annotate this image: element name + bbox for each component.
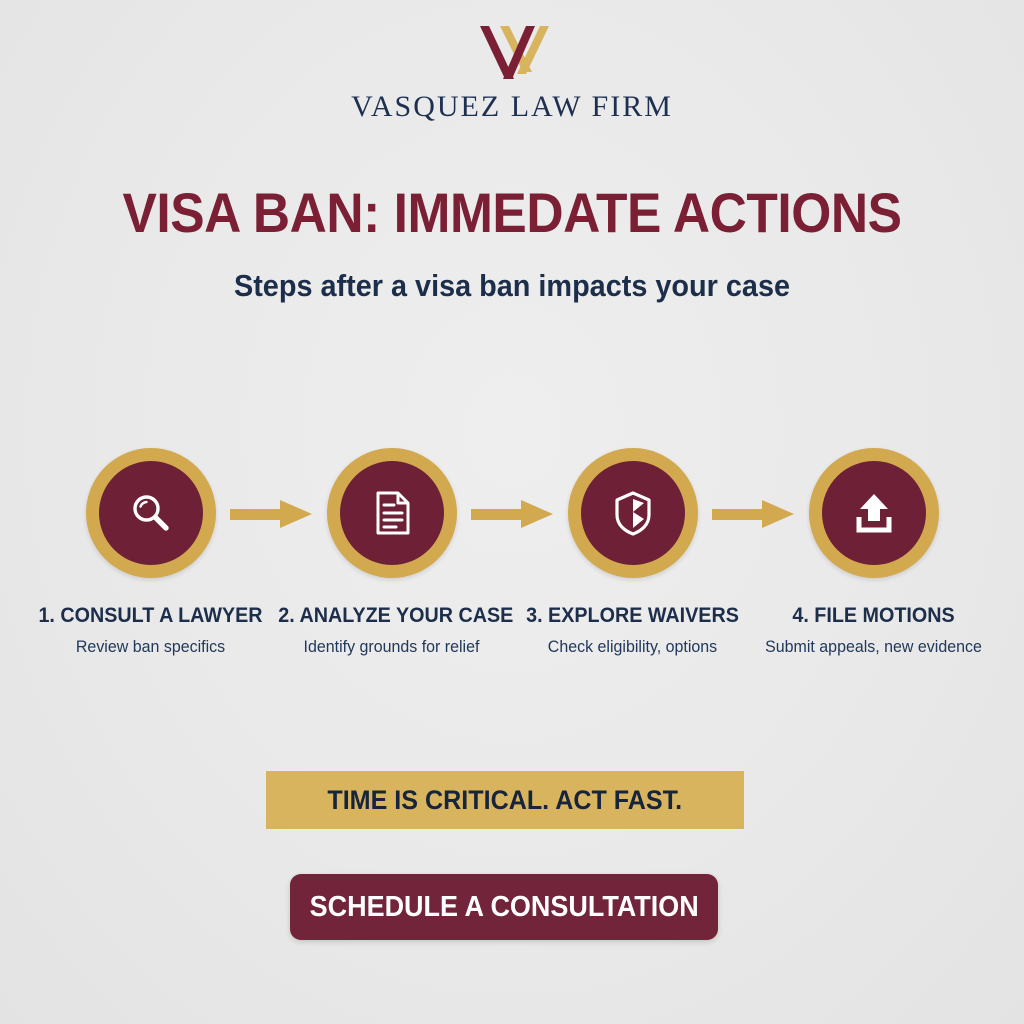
step-badge-2 bbox=[327, 448, 457, 578]
arrow-right-icon bbox=[471, 498, 557, 530]
urgency-banner: TIME IS CRITICAL. ACT FAST. bbox=[266, 771, 744, 829]
step-badge-4 bbox=[809, 448, 939, 578]
double-chevron-v-logo-icon bbox=[466, 22, 558, 84]
step-badge-3 bbox=[568, 448, 698, 578]
step-item-1: 1. CONSULT A LAWYER Review ban specifics bbox=[30, 448, 271, 657]
step-badge-inner-1 bbox=[99, 461, 203, 565]
step-badge-inner-4 bbox=[822, 461, 926, 565]
arrow-right-icon bbox=[230, 498, 316, 530]
step-title-4: 4. FILE MOTIONS bbox=[760, 604, 987, 628]
step-badge-1 bbox=[86, 448, 216, 578]
page-subtitle: Steps after a visa ban impacts your case bbox=[36, 268, 988, 304]
arrow-right-icon bbox=[712, 498, 798, 530]
step-item-4: 4. FILE MOTIONS Submit appeals, new evid… bbox=[753, 448, 994, 657]
steps-row: 1. CONSULT A LAWYER Review ban specifics bbox=[30, 448, 994, 678]
step-subtitle-2: Identify grounds for relief bbox=[278, 637, 505, 657]
step-badge-inner-2 bbox=[340, 461, 444, 565]
step-item-3: 3. EXPLORE WAIVERS Check eligibility, op… bbox=[512, 448, 753, 657]
upload-arrow-icon bbox=[849, 488, 899, 538]
page-title: VISA BAN: IMMEDATE ACTIONS bbox=[41, 180, 983, 245]
step-item-2: 2. ANALYZE YOUR CASE Identify grounds fo… bbox=[271, 448, 512, 657]
step-subtitle-4: Submit appeals, new evidence bbox=[760, 637, 987, 657]
magnifier-search-icon bbox=[126, 488, 176, 538]
step-title-1: 1. CONSULT A LAWYER bbox=[37, 604, 264, 628]
infographic-poster: VASQUEZ LAW FIRM VISA BAN: IMMEDATE ACTI… bbox=[0, 0, 1024, 1024]
urgency-banner-text: TIME IS CRITICAL. ACT FAST. bbox=[328, 785, 683, 816]
step-subtitle-1: Review ban specifics bbox=[37, 637, 264, 657]
shield-icon bbox=[608, 488, 658, 538]
step-subtitle-3: Check eligibility, options bbox=[519, 637, 746, 657]
brand-header: VASQUEZ LAW FIRM bbox=[0, 22, 1024, 124]
brand-name: VASQUEZ LAW FIRM bbox=[0, 90, 1024, 124]
step-title-3: 3. EXPLORE WAIVERS bbox=[519, 604, 746, 628]
step-title-2: 2. ANALYZE YOUR CASE bbox=[278, 604, 505, 628]
step-badge-inner-3 bbox=[581, 461, 685, 565]
schedule-consultation-button-label: SCHEDULE A CONSULTATION bbox=[309, 891, 698, 924]
schedule-consultation-button[interactable]: SCHEDULE A CONSULTATION bbox=[290, 874, 718, 940]
document-lines-icon bbox=[367, 488, 417, 538]
